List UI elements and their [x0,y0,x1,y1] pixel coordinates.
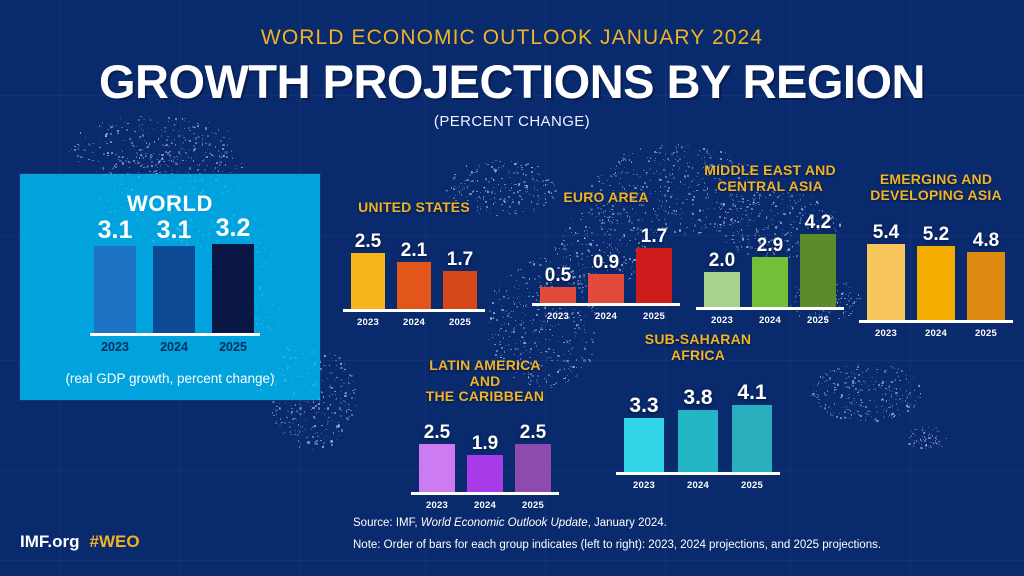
region-year-label: 2024 [752,315,788,326]
source-publication: World Economic Outlook Update [421,517,588,529]
region-bar [351,253,385,309]
region-bar-group: 1.7 [443,250,477,309]
region-year-labels: 202320242025 [867,328,1005,339]
region-bar-group: 2.0 [704,251,740,307]
region-bar-group: 5.4 [867,223,905,320]
region-bar [588,274,624,303]
region-bar-value: 0.5 [545,266,571,285]
region-bars: 0.50.91.7 [540,227,672,303]
region-plot: 2.02.94.2202320242025 [704,202,836,307]
world-bar [153,246,195,334]
region-year-labels: 202320242025 [540,311,672,322]
region-chart-sub-saharan: SUB-SAHARAN AFRICA3.33.84.1202320242025 [618,332,778,472]
weo-hashtag: #WEO [90,532,140,551]
page-subtitle: (PERCENT CHANGE) [0,113,1024,130]
region-bars: 2.02.94.2 [704,213,836,307]
world-year-labels: 202320242025 [94,340,254,354]
region-chart-middle-east: MIDDLE EAST AND CENTRAL ASIA2.02.94.2202… [700,163,840,307]
world-bar [212,244,254,334]
region-baseline [411,492,559,495]
region-baseline [616,472,780,475]
footer-notes: Source: IMF, World Economic Outlook Upda… [353,513,881,556]
region-title: LATIN AMERICA AND THE CARIBBEAN [416,358,554,405]
eyebrow-title: WORLD ECONOMIC OUTLOOK JANUARY 2024 [0,26,1024,50]
region-bar [732,405,772,472]
world-year-label: 2023 [94,340,136,354]
region-bar-value: 3.3 [629,395,658,416]
region-bars: 5.45.24.8 [867,223,1005,320]
region-bars: 3.33.84.1 [624,382,772,472]
region-bar-value: 3.8 [683,387,712,408]
world-baseline [90,333,260,336]
region-year-label: 2025 [800,315,836,326]
region-bar-group: 3.8 [678,387,718,472]
region-bar-value: 1.9 [472,434,498,453]
region-year-label: 2023 [867,328,905,339]
world-panel-caption: (real GDP growth, percent change) [20,371,320,386]
infographic-canvas: WORLD ECONOMIC OUTLOOK JANUARY 2024 GROW… [0,0,1024,576]
region-bar-group: 0.5 [540,266,576,303]
region-plot: 0.50.91.7202320242025 [540,214,672,303]
region-bar-value: 2.1 [401,241,427,260]
region-bar [867,244,905,320]
region-bar-group: 2.5 [419,423,455,492]
region-bar-group: 2.5 [515,423,551,492]
region-year-label: 2024 [588,311,624,322]
region-year-labels: 202320242025 [624,480,772,491]
region-bar [624,418,664,472]
region-bar [467,455,503,492]
region-bar [515,444,551,492]
region-bar-value: 4.8 [973,231,999,250]
world-bar-value: 3.2 [216,216,251,241]
region-bar-group: 1.9 [467,434,503,492]
region-bar-group: 0.9 [588,253,624,303]
region-bar-group: 3.3 [624,395,664,472]
region-bar-value: 5.4 [873,223,899,242]
region-bar [397,262,431,309]
region-chart-euro-area: EURO AREA0.50.91.7202320242025 [536,190,676,303]
region-bar-value: 4.2 [805,213,831,232]
region-year-label: 2025 [443,317,477,328]
region-bar-group: 2.1 [397,241,431,309]
source-date: , January 2024. [588,517,667,529]
region-year-label: 2023 [540,311,576,322]
world-bar-group: 3.2 [212,216,254,334]
world-bars: 3.13.13.2 [94,238,254,334]
region-bar-group: 4.8 [967,231,1005,320]
region-year-label: 2025 [636,311,672,322]
region-bar-value: 2.9 [757,236,783,255]
region-year-labels: 202320242025 [351,317,477,328]
region-bars: 2.51.92.5 [419,423,551,492]
region-year-label: 2025 [515,500,551,511]
region-bar-group: 4.2 [800,213,836,307]
region-year-label: 2023 [624,480,664,491]
region-title: SUB-SAHARAN AFRICA [618,332,778,363]
region-bar [800,234,836,307]
region-bar-group: 2.9 [752,236,788,307]
region-title: EMERGING AND DEVELOPING ASIA [862,172,1010,203]
imf-org-label: IMF.org [20,532,80,551]
region-bar-value: 1.7 [641,227,667,246]
region-chart-emerging-asia: EMERGING AND DEVELOPING ASIA5.45.24.8202… [862,172,1010,320]
region-title: UNITED STATES [348,200,480,216]
region-year-label: 2025 [732,480,772,491]
region-title: MIDDLE EAST AND CENTRAL ASIA [700,163,840,194]
world-panel-title: WORLD [20,191,320,217]
world-bar-value: 3.1 [98,218,133,243]
region-title: EURO AREA [536,190,676,206]
region-bar-group: 1.7 [636,227,672,303]
region-year-label: 2024 [678,480,718,491]
imf-brand: IMF.org#WEO [20,532,140,552]
region-bar-value: 2.5 [355,232,381,251]
region-bar [752,257,788,307]
region-year-label: 2023 [419,500,455,511]
region-bar-value: 2.0 [709,251,735,270]
region-baseline [859,320,1013,323]
region-baseline [696,307,844,310]
region-bar-group: 2.5 [351,232,385,309]
region-bar-value: 2.5 [424,423,450,442]
source-line: Source: IMF, World Economic Outlook Upda… [353,513,881,534]
region-bar [540,287,576,303]
world-panel: WORLD 3.13.13.2 202320242025 (real GDP g… [20,174,320,400]
region-bar [636,248,672,303]
region-bars: 2.52.11.7 [351,232,477,309]
region-plot: 3.33.84.1202320242025 [624,371,772,472]
region-year-label: 2025 [967,328,1005,339]
world-year-label: 2025 [212,340,254,354]
region-bar [704,272,740,307]
page-title: GROWTH PROJECTIONS BY REGION [0,54,1024,109]
world-year-label: 2024 [153,340,195,354]
world-bar-value: 3.1 [157,218,192,243]
region-plot: 2.51.92.5202320242025 [419,413,551,492]
region-year-labels: 202320242025 [704,315,836,326]
region-year-label: 2023 [704,315,740,326]
region-bar [967,252,1005,320]
region-bar [917,246,955,320]
region-bar [419,444,455,492]
region-chart-united-states: UNITED STATES2.52.11.7202320242025 [348,200,480,309]
world-chart: 3.13.13.2 202320242025 [20,236,320,360]
region-bar-value: 2.5 [520,423,546,442]
world-bar-group: 3.1 [94,218,136,334]
region-bar-group: 5.2 [917,225,955,320]
region-baseline [343,309,485,312]
source-label: Source: IMF, [353,517,418,529]
region-bar-group: 4.1 [732,382,772,472]
region-bar [678,410,718,472]
region-chart-latin-america: LATIN AMERICA AND THE CARIBBEAN2.51.92.5… [416,358,554,492]
region-plot: 5.45.24.8202320242025 [867,211,1005,320]
region-baseline [532,303,680,306]
region-bar-value: 1.7 [447,250,473,269]
region-year-label: 2024 [467,500,503,511]
region-bar-value: 4.1 [737,382,766,403]
note-line: Note: Order of bars for each group indic… [353,535,881,556]
region-bar-value: 5.2 [923,225,949,244]
world-bar [94,246,136,334]
region-year-labels: 202320242025 [419,500,551,511]
region-bar-value: 0.9 [593,253,619,272]
world-bar-group: 3.1 [153,218,195,334]
region-year-label: 2023 [351,317,385,328]
region-bar [443,271,477,309]
region-year-label: 2024 [917,328,955,339]
region-year-label: 2024 [397,317,431,328]
region-plot: 2.52.11.7202320242025 [351,224,477,309]
